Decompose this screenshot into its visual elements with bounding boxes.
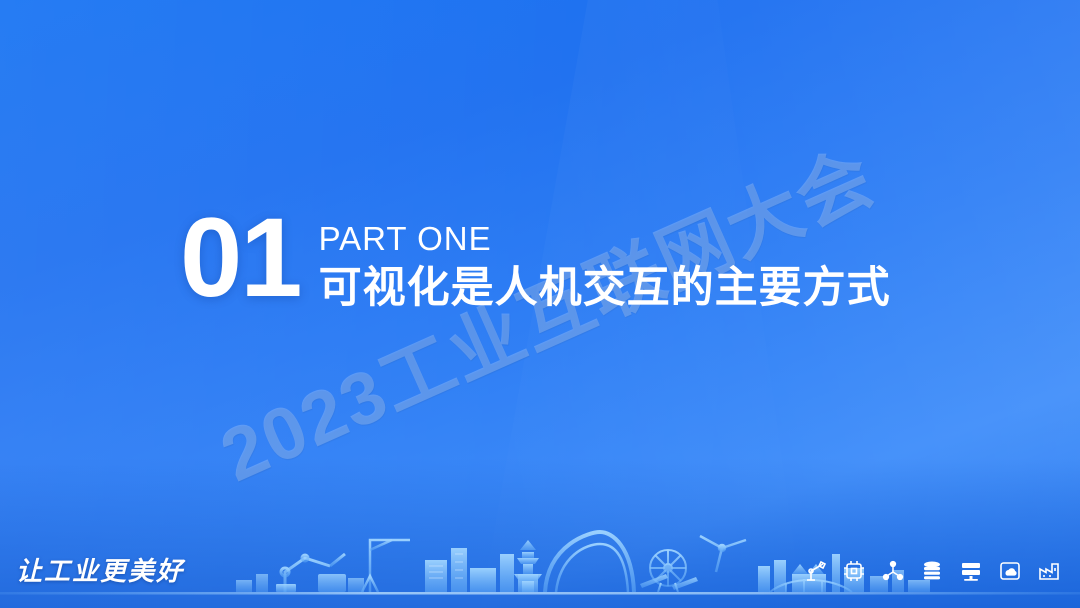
network-node-icon bbox=[880, 558, 906, 584]
robot-arm-icon bbox=[802, 558, 828, 584]
database-icon bbox=[919, 558, 945, 584]
section-title: 可视化是人机交互的主要方式 bbox=[319, 263, 891, 315]
slogan-text: 让工业更美好 bbox=[16, 551, 184, 588]
section-headline-text: PART ONE 可视化是人机交互的主要方式 bbox=[319, 205, 891, 315]
footer-icon-row bbox=[802, 558, 1062, 584]
section-headline: 01 PART ONE 可视化是人机交互的主要方式 bbox=[180, 205, 891, 315]
server-rack-icon bbox=[958, 558, 984, 584]
factory-icon bbox=[1036, 558, 1062, 584]
section-number: 01 bbox=[180, 205, 301, 311]
presentation-slide: 2023工业互联网大会 01 PART ONE 可视化是人机交互的主要方式 bbox=[0, 0, 1080, 608]
chip-icon bbox=[841, 558, 867, 584]
skyline-graphic bbox=[0, 488, 1080, 608]
cloud-icon bbox=[997, 558, 1023, 584]
section-label: PART ONE bbox=[319, 221, 891, 257]
